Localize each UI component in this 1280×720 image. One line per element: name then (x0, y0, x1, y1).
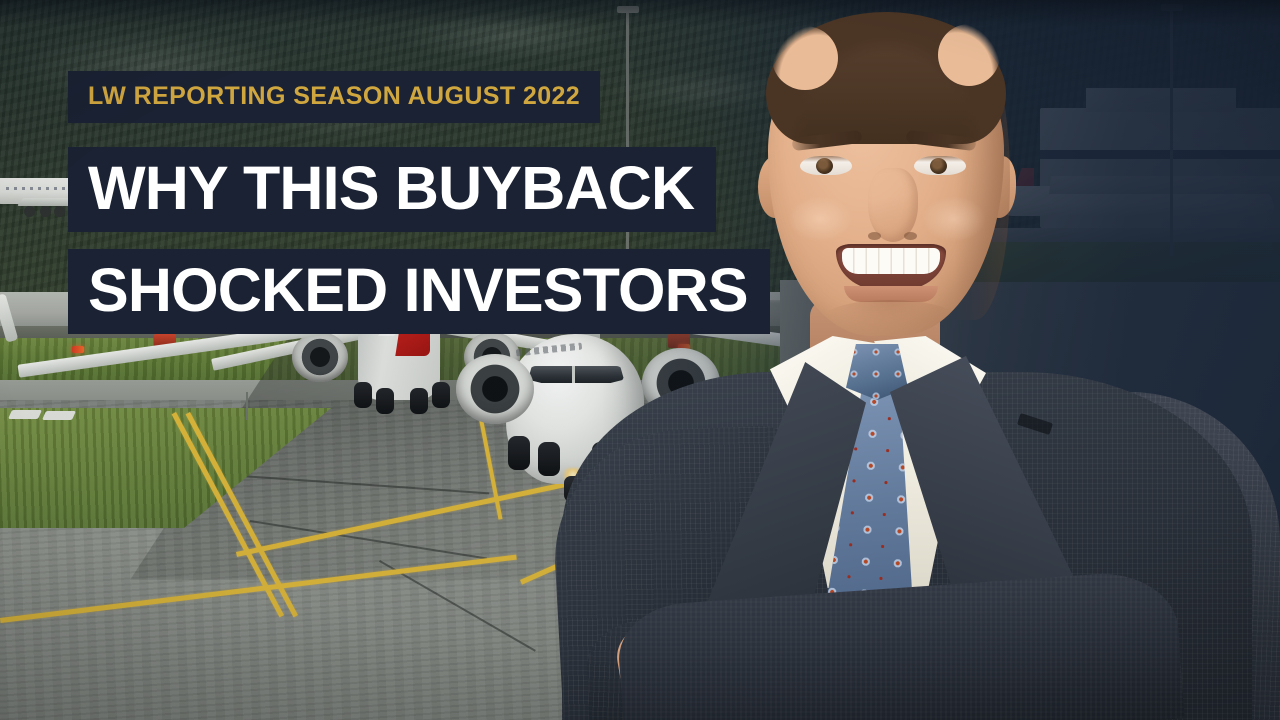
nose (868, 168, 918, 242)
eye-right (914, 156, 966, 175)
eyelid-right (914, 156, 966, 162)
headline-line-2: SHOCKED INVESTORS (68, 249, 770, 334)
nostril-right (904, 232, 917, 240)
teeth (842, 248, 940, 274)
cheek-highlight-right (922, 196, 986, 242)
video-thumbnail: LW REPORTING SEASON AUGUST 2022 WHY THIS… (0, 0, 1280, 720)
hairline-left (772, 26, 838, 90)
nostril-left (868, 232, 881, 240)
headline-line-1: WHY THIS BUYBACK (68, 147, 716, 232)
eyebrow-label: LW REPORTING SEASON AUGUST 2022 (68, 71, 600, 123)
eyelid-left (800, 156, 852, 162)
chin-shadow (822, 300, 958, 338)
title-overlay: LW REPORTING SEASON AUGUST 2022 WHY THIS… (68, 71, 770, 334)
hairline-right (938, 24, 1000, 86)
cheek-highlight-left (788, 196, 852, 242)
eye-left (800, 156, 852, 175)
